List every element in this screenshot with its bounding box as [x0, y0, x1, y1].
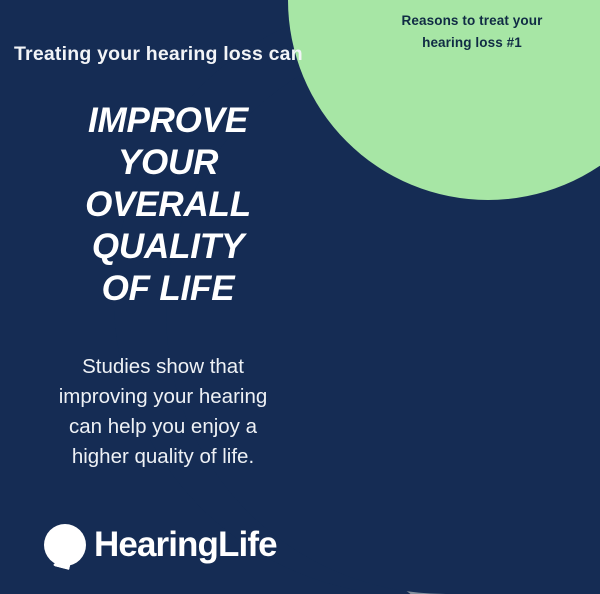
advertisement-canvas: Reasons to treat your hearing loss #1 Tr… — [0, 0, 600, 594]
speech-bubble-tail — [53, 552, 73, 570]
kicker-text: Treating your hearing loss can — [14, 43, 303, 66]
headline: IMPROVE YOUR OVERALL QUALITY OF LIFE — [18, 100, 318, 310]
reasons-badge-text: Reasons to treat your hearing loss #1 — [362, 10, 582, 55]
reasons-badge-line-1: Reasons to treat your — [362, 10, 582, 32]
speech-bubble-icon — [44, 524, 86, 566]
body-copy-line-4: higher quality of life. — [18, 442, 308, 472]
headline-line-1: IMPROVE — [18, 100, 318, 142]
body-copy: Studies show that improving your hearing… — [18, 352, 308, 472]
headline-line-4: QUALITY — [18, 226, 318, 268]
placket — [528, 340, 533, 420]
collar — [504, 336, 562, 356]
logo-wordmark: HearingLife — [94, 525, 277, 565]
headline-line-5: OF LIFE — [18, 268, 318, 310]
torso — [584, 356, 600, 594]
headline-line-3: OVERALL — [18, 184, 318, 226]
skirt — [298, 410, 372, 530]
headline-line-2: YOUR — [18, 142, 318, 184]
body-copy-line-2: improving your hearing — [18, 382, 308, 412]
shorts — [472, 544, 598, 594]
body-copy-line-1: Studies show that — [18, 352, 308, 382]
hearinglife-logo[interactable]: HearingLife — [44, 524, 277, 566]
body-copy-line-3: can help you enjoy a — [18, 412, 308, 442]
skirt — [586, 588, 600, 594]
reasons-badge-line-2: hearing loss #1 — [362, 32, 582, 54]
